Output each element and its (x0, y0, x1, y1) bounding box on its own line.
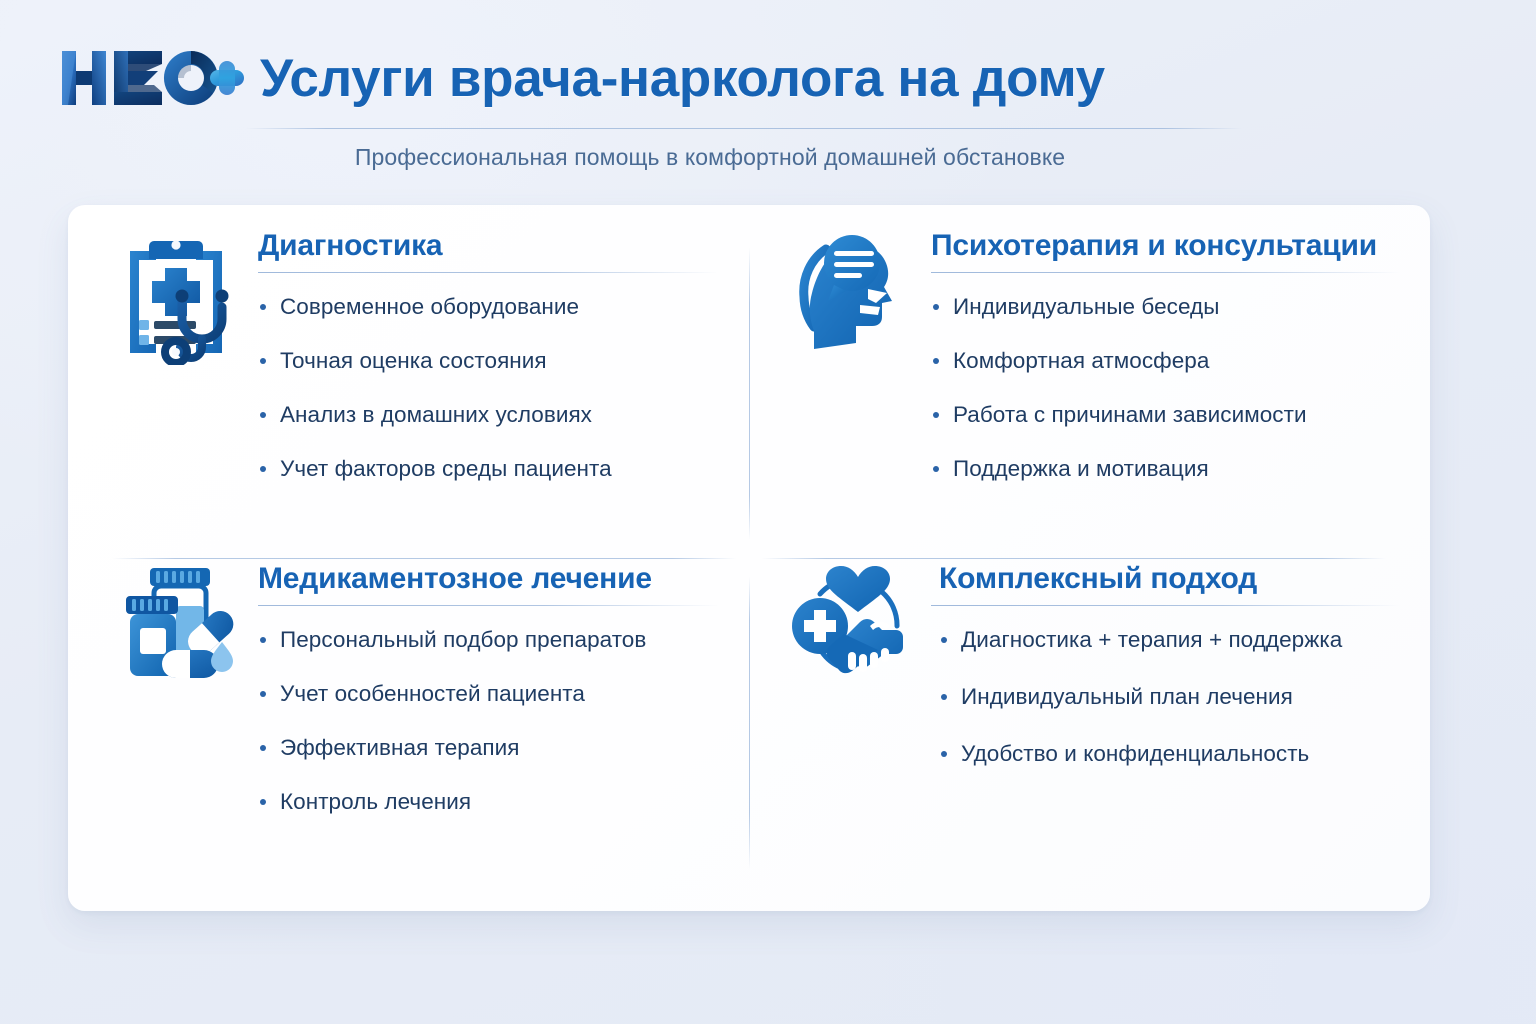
list-item: Индивидуальные беседы (931, 293, 1400, 320)
page-subtitle: Профессиональная помощь в комфортной дом… (0, 144, 1420, 171)
page-title: Услуги врача-нарколога на дому (260, 52, 1105, 105)
list-item: Учет факторов среды пациента (258, 455, 719, 482)
section-title-underline (931, 605, 1400, 606)
title-divider (246, 128, 1242, 129)
section-diagnostics: Диагностика Современное оборудование Точ… (68, 205, 749, 558)
list-item: Удобство и конфиденциальность (939, 740, 1400, 767)
section-complex-approach: Комплексный подход Диагностика + терапия… (749, 558, 1430, 911)
clipboard-stethoscope-icon (110, 225, 246, 361)
feature-list: Индивидуальные беседы Комфортная атмосфе… (931, 293, 1400, 482)
services-grid: Диагностика Современное оборудование Точ… (68, 205, 1430, 911)
section-body: Диагностика Современное оборудование Точ… (246, 225, 719, 482)
section-title: Комплексный подход (931, 562, 1400, 596)
list-item: Эффективная терапия (258, 734, 719, 761)
section-title-underline (931, 272, 1400, 273)
services-card: Диагностика Современное оборудование Точ… (68, 205, 1430, 911)
feature-list: Современное оборудование Точная оценка с… (258, 293, 719, 482)
list-item: Точная оценка состояния (258, 347, 719, 374)
list-item: Контроль лечения (258, 788, 719, 815)
list-item: Поддержка и мотивация (931, 455, 1400, 482)
section-title: Медикаментозное лечение (258, 562, 719, 596)
section-body: Медикаментозное лечение Персональный под… (246, 558, 719, 815)
section-title-underline (258, 605, 719, 606)
neo-plus-logo (58, 45, 244, 111)
section-psychotherapy: Психотерапия и консультации Индивидуальн… (749, 205, 1430, 558)
section-title-underline (258, 272, 719, 273)
feature-list: Персональный подбор препаратов Учет особ… (258, 626, 719, 815)
header: Услуги врача-нарколога на дому Профессио… (0, 0, 1536, 196)
list-item: Учет особенностей пациента (258, 680, 719, 707)
section-title: Диагностика (258, 229, 719, 263)
section-body: Психотерапия и консультации Индивидуальн… (919, 225, 1400, 482)
pill-bottles-capsules-icon (110, 558, 246, 694)
list-item: Персональный подбор препаратов (258, 626, 719, 653)
list-item: Анализ в домашних условиях (258, 401, 719, 428)
list-item: Комфортная атмосфера (931, 347, 1400, 374)
section-medication: Медикаментозное лечение Персональный под… (68, 558, 749, 911)
list-item: Диагностика + терапия + поддержка (939, 626, 1400, 653)
head-speech-bubble-icon (783, 225, 919, 361)
title-row: Услуги врача-нарколога на дому (58, 40, 1105, 116)
section-title: Психотерапия и консультации (931, 229, 1400, 263)
list-item: Современное оборудование (258, 293, 719, 320)
heart-handshake-cross-icon (783, 558, 919, 694)
section-body: Комплексный подход Диагностика + терапия… (919, 558, 1400, 797)
infographic-page: Услуги врача-нарколога на дому Профессио… (0, 0, 1536, 1024)
feature-list: Диагностика + терапия + поддержка Индиви… (931, 626, 1400, 767)
list-item: Индивидуальный план лечения (939, 683, 1400, 710)
list-item: Работа с причинами зависимости (931, 401, 1400, 428)
